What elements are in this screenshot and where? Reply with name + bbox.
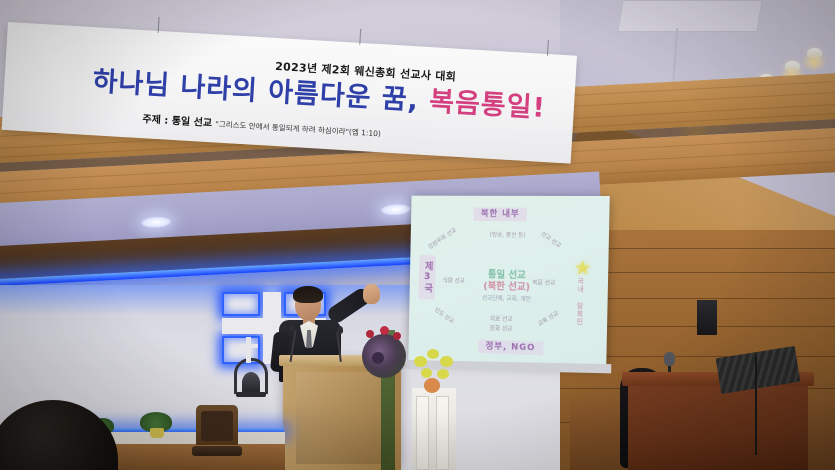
ceiling-vent-panel: [617, 0, 762, 32]
music-stand-pole: [755, 355, 757, 455]
yellow-flower: [427, 349, 439, 359]
orange-flower: [424, 378, 440, 393]
bell-icon: [242, 372, 260, 394]
flower-ribbon: [436, 396, 449, 470]
yellow-flower: [421, 368, 432, 378]
ring-label: 교육 선교: [537, 311, 560, 329]
ring-label: 인도 선교: [433, 307, 455, 325]
chair-cushion: [201, 411, 233, 441]
slide-bottom-label: 정부, NGO: [478, 339, 543, 355]
banner-subject-quote: "그리스도 안에서 통일되게 하려 하심이라"(엡 1:10): [215, 119, 381, 138]
ring-label: 문화 선교: [490, 326, 513, 333]
yellow-flower: [414, 356, 427, 367]
slide-left-label: 제3국: [419, 255, 436, 299]
small-cross-horizontal: [239, 344, 258, 348]
downlight: [141, 216, 172, 229]
ring-label: 의료 선교: [490, 316, 513, 323]
banner-main-pink: 복음통일!: [428, 86, 546, 124]
dark-flower: [372, 352, 384, 364]
slide-top-label: 북한 내부: [473, 207, 527, 221]
microphone-head: [337, 326, 344, 335]
cross-light-panel: [222, 292, 260, 316]
wooden-table-right: [628, 378, 808, 470]
red-flower: [393, 332, 401, 340]
star-icon: ★: [574, 257, 592, 277]
bell-base: [236, 392, 266, 397]
plant-pot: [150, 428, 164, 438]
floor-microphone-head: [664, 352, 675, 366]
speaker-hair: [293, 286, 323, 303]
red-flower: [380, 326, 389, 335]
flower-ribbon: [416, 396, 429, 470]
ring-label: 식량 선교: [442, 278, 464, 285]
ring-label: 강원우회 선교: [428, 227, 458, 251]
speaker-box: [697, 300, 717, 335]
projection-screen: 북한 내부 (방송, 풍선 등) 정부, NGO 제3국 ★ 국내 탈북민 통일…: [408, 196, 609, 368]
slide-top-sub: (방송, 풍선 등): [475, 233, 541, 240]
ring-label: 복음 선교: [532, 280, 555, 287]
slide-right-label: 국내 탈북민: [576, 277, 585, 326]
flower-wreath: [362, 334, 406, 378]
banner-subject-label: 주제 : 통일 선교: [142, 114, 212, 129]
slide-center-note: 선교단체, 교회, 개인: [462, 295, 551, 304]
speaker-raised-hand: [363, 284, 380, 304]
small-cross-vertical: [246, 337, 251, 363]
red-flower: [366, 330, 374, 338]
yellow-flower: [440, 356, 453, 367]
yellow-flower: [437, 369, 449, 379]
pulpit-front-panel: [296, 372, 388, 464]
conference-photo: 북한 내부 (방송, 풍선 등) 정부, NGO 제3국 ★ 국내 탈북민 통일…: [0, 0, 835, 470]
ring-label: 선교 선교: [539, 231, 562, 250]
chair-seat: [192, 446, 242, 456]
downlight: [381, 203, 412, 216]
